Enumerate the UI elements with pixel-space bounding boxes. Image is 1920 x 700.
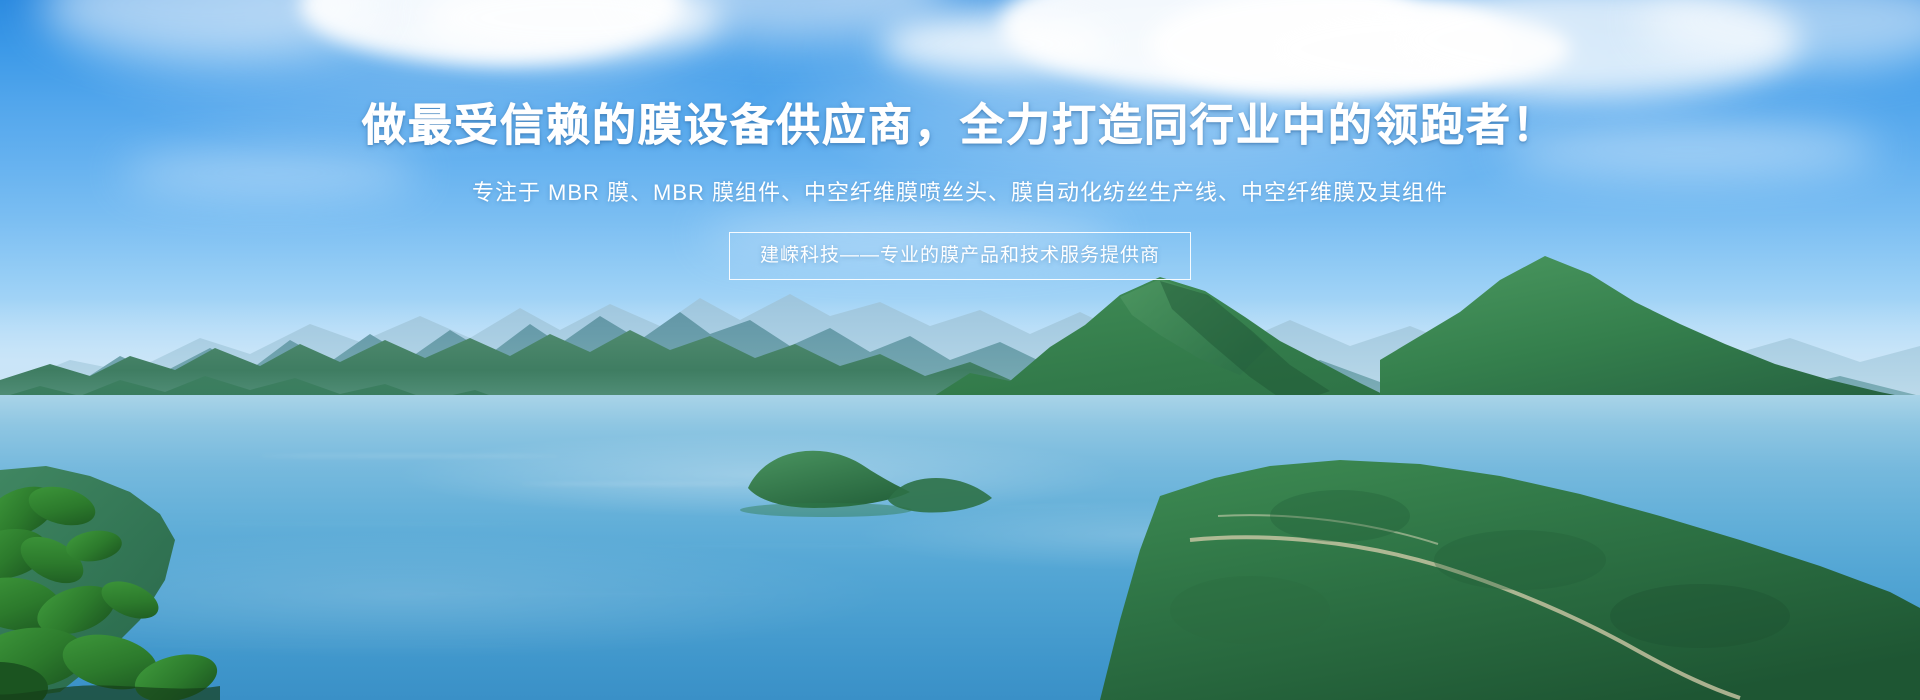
hero-banner: 做最受信赖的膜设备供应商，全力打造同行业中的领跑者！ 专注于 MBR 膜、MBR… [0, 0, 1920, 700]
banner-subline: 专注于 MBR 膜、MBR 膜组件、中空纤维膜喷丝头、膜自动化纺丝生产线、中空纤… [0, 178, 1920, 208]
foreground-foliage [0, 450, 220, 700]
banner-headline: 做最受信赖的膜设备供应商，全力打造同行业中的领跑者！ [0, 98, 1920, 154]
right-shoreline [1040, 420, 1920, 700]
banner-copy: 做最受信赖的膜设备供应商，全力打造同行业中的领跑者！ 专注于 MBR 膜、MBR… [0, 0, 1920, 280]
small-island [880, 470, 1000, 520]
banner-tagline-box: 建嵘科技——专业的膜产品和技术服务提供商 [729, 232, 1191, 280]
tagline-container: 建嵘科技——专业的膜产品和技术服务提供商 [0, 232, 1920, 280]
